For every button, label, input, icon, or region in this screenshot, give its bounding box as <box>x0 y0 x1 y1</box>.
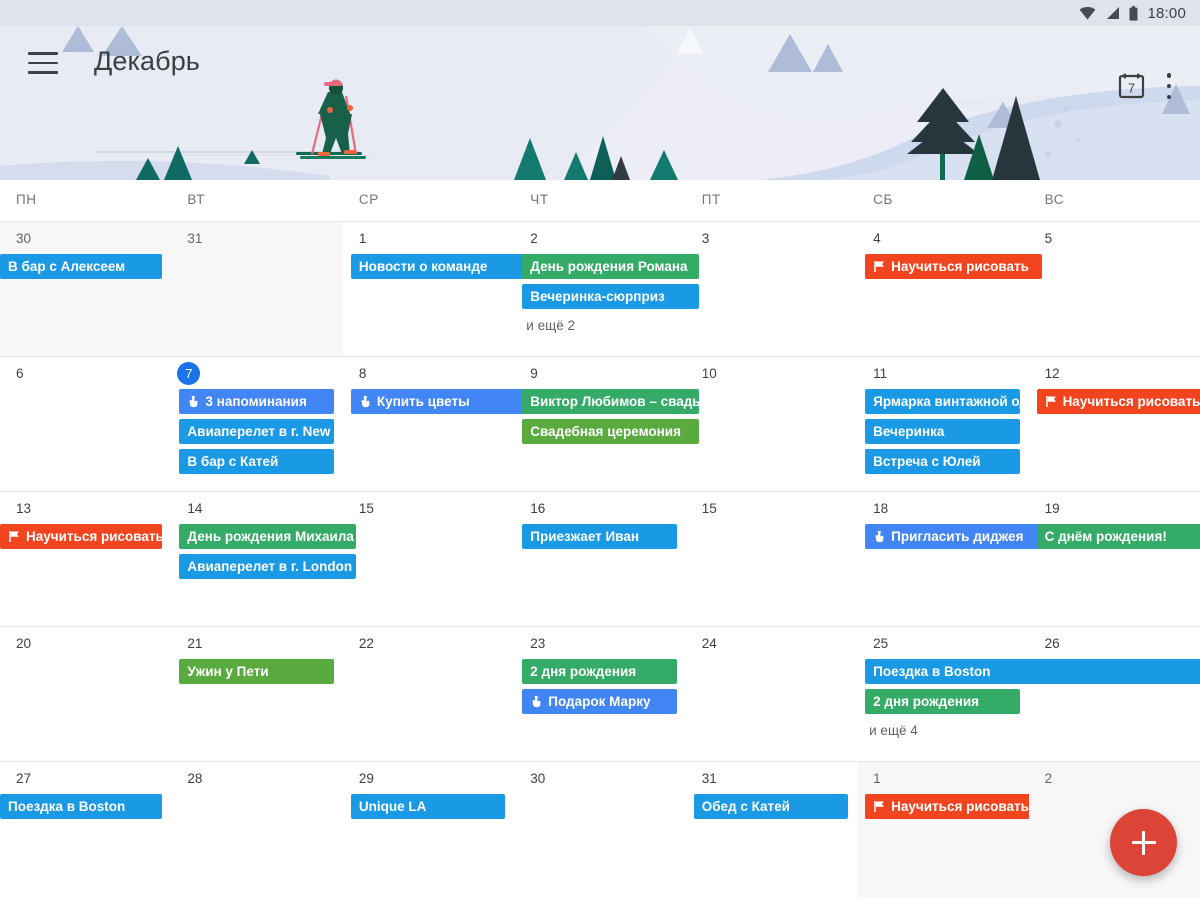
calendar-event[interactable]: Авиаперелет в г. New York <box>179 419 333 444</box>
month-grid: 30В бар с Алексеем311Новости о команде2Д… <box>0 222 1200 900</box>
more-events-link[interactable]: и ещё 2 <box>514 314 684 333</box>
day-events: Научиться рисовать <box>857 794 1027 824</box>
day-cell[interactable]: 4Научиться рисовать <box>857 222 1028 356</box>
day-events: Ярмарка винтажной одеждыВечеринкаВстреча… <box>857 389 1027 479</box>
event-title: Научиться рисовать <box>891 799 1029 814</box>
day-cell[interactable]: 14День рождения МихаилаАвиаперелет в г. … <box>171 492 342 626</box>
day-cell[interactable]: 73 напоминанияАвиаперелет в г. New YorkВ… <box>171 357 342 491</box>
day-cell[interactable]: 2День рождения РоманаВечеринка-сюрпризи … <box>514 222 685 356</box>
calendar-today-icon[interactable]: 7 <box>1118 72 1145 99</box>
calendar-event[interactable]: Подарок Марку <box>522 689 676 714</box>
event-title: Unique LA <box>359 799 427 814</box>
day-events: В бар с Алексеем <box>0 254 170 284</box>
day-events: День рождения МихаилаАвиаперелет в г. Lo… <box>171 524 341 584</box>
weekday-label-чт: ЧТ <box>514 180 685 221</box>
day-number: 24 <box>686 627 856 659</box>
weekday-label-пн: ПН <box>0 180 171 221</box>
event-title: Свадебная церемония <box>530 424 681 439</box>
day-events: День рождения РоманаВечеринка-сюрпризи е… <box>514 254 684 333</box>
day-cell[interactable]: 31Обед с Катей <box>686 762 857 897</box>
reminder-finger-icon <box>530 695 543 708</box>
day-number: 10 <box>686 357 856 389</box>
day-cell[interactable]: 22 <box>343 627 514 761</box>
day-number: 20 <box>0 627 170 659</box>
overflow-menu-icon[interactable] <box>1158 73 1180 99</box>
day-events: Приезжает Иван <box>514 524 684 554</box>
day-number: 29 <box>343 762 513 794</box>
event-title: Купить цветы <box>377 394 470 409</box>
day-cell[interactable]: 15 <box>343 492 514 626</box>
day-number: 1 <box>343 222 513 254</box>
day-cell[interactable]: 18Пригласить диджея <box>857 492 1028 626</box>
day-cell[interactable]: 25Поездка в Boston2 дня рожденияи ещё 4 <box>857 627 1028 761</box>
event-title: Вечеринка-сюрприз <box>530 289 664 304</box>
day-events: Научиться рисовать <box>857 254 1027 284</box>
day-number: 25 <box>857 627 1027 659</box>
flag-icon <box>873 260 886 273</box>
day-events: Купить цветы <box>343 389 513 419</box>
day-cell[interactable]: 6 <box>0 357 171 491</box>
calendar-event[interactable]: 3 напоминания <box>179 389 333 414</box>
day-number: 28 <box>171 762 341 794</box>
day-events: Виктор Любимов – свадьбаСвадебная церемо… <box>514 389 684 449</box>
day-events: Новости о команде <box>343 254 513 284</box>
event-title: 2 дня рождения <box>530 664 636 679</box>
day-number: 15 <box>343 492 513 524</box>
today-date-number: 7 <box>1128 81 1135 96</box>
day-number: 11 <box>857 357 1027 389</box>
day-number: 1 <box>857 762 1027 794</box>
flag-icon <box>873 800 886 813</box>
event-title: Приезжает Иван <box>530 529 639 544</box>
calendar-event[interactable]: Пригласить диджея <box>865 524 1041 549</box>
calendar-event[interactable]: Ярмарка винтажной одежды <box>865 389 1019 414</box>
day-cell[interactable]: 10 <box>686 357 857 491</box>
day-cell[interactable]: 9Виктор Любимов – свадьбаСвадебная церем… <box>514 357 685 491</box>
day-number: 13 <box>0 492 170 524</box>
day-cell[interactable]: 27Поездка в Boston <box>0 762 171 897</box>
day-cell[interactable]: 30В бар с Алексеем <box>0 222 171 356</box>
day-number: 30 <box>514 762 684 794</box>
day-events: Пригласить диджея <box>857 524 1027 554</box>
day-number: 18 <box>857 492 1027 524</box>
create-event-button[interactable] <box>1110 809 1177 876</box>
calendar-event[interactable]: День рождения Романа <box>522 254 698 279</box>
day-events: Поездка в Boston2 дня рожденияи ещё 4 <box>857 659 1027 738</box>
calendar-event[interactable]: Новости о команде <box>351 254 527 279</box>
day-number: 16 <box>514 492 684 524</box>
day-events: Поездка в Boston <box>0 794 170 824</box>
event-title: Научиться рисовать <box>1063 394 1200 409</box>
event-title: Пригласить диджея <box>891 529 1023 544</box>
reminder-finger-icon <box>873 530 886 543</box>
calendar-event[interactable]: День рождения Михаила <box>179 524 355 549</box>
calendar-event[interactable]: В бар с Алексеем <box>0 254 162 279</box>
weekday-label-пт: ПТ <box>686 180 857 221</box>
weekday-label-вс: ВС <box>1029 180 1200 221</box>
day-cell[interactable]: 24 <box>686 627 857 761</box>
calendar-event[interactable]: Авиаперелет в г. London <box>179 554 355 579</box>
day-number: 31 <box>171 222 341 254</box>
week-row: 673 напоминанияАвиаперелет в г. New York… <box>0 357 1200 492</box>
day-cell[interactable]: 21Ужин у Пети <box>171 627 342 761</box>
calendar-event[interactable]: В бар с Катей <box>179 449 333 474</box>
event-title: Новости о команде <box>359 259 488 274</box>
day-cell[interactable]: 26 <box>1029 627 1200 761</box>
day-events: Ужин у Пети <box>171 659 341 689</box>
calendar-event[interactable]: Свадебная церемония <box>522 419 698 444</box>
reminder-finger-icon <box>359 395 372 408</box>
event-title: Авиаперелет в г. London <box>187 559 352 574</box>
event-title: С днём рождения! <box>1045 529 1167 544</box>
event-title: День рождения Романа <box>530 259 687 274</box>
calendar-event[interactable]: 2 дня рождения <box>865 689 1019 714</box>
day-cell[interactable]: 29Unique LA <box>343 762 514 897</box>
day-cell[interactable]: 15 <box>686 492 857 626</box>
event-title: Ужин у Пети <box>187 664 268 679</box>
week-row: 27Поездка в Boston2829Unique LA3031Обед … <box>0 762 1200 897</box>
today-badge: 7 <box>177 362 200 385</box>
calendar-event[interactable]: Ужин у Пети <box>179 659 333 684</box>
day-number: 23 <box>514 627 684 659</box>
day-events: 2 дня рожденияПодарок Марку <box>514 659 684 719</box>
day-number: 6 <box>0 357 170 389</box>
event-title: Научиться рисовать <box>891 259 1029 274</box>
day-number: 26 <box>1029 627 1199 659</box>
event-title: Научиться рисовать <box>26 529 162 544</box>
day-cell[interactable]: 16Приезжает Иван <box>514 492 685 626</box>
day-number: 2 <box>1029 762 1199 794</box>
event-title: Обед с Катей <box>702 799 790 814</box>
day-number: 5 <box>1029 222 1199 254</box>
day-cell[interactable]: 19С днём рождения! <box>1029 492 1200 626</box>
event-title: 2 дня рождения <box>873 694 979 709</box>
day-number: 15 <box>686 492 856 524</box>
weekday-label-ср: СР <box>343 180 514 221</box>
calendar-header: Декабрь 7 <box>0 26 1200 180</box>
calendar-event[interactable]: Научиться рисовать <box>0 524 162 549</box>
day-number: 8 <box>343 357 513 389</box>
status-clock: 18:00 <box>1147 5 1186 22</box>
event-title: В бар с Катей <box>187 454 278 469</box>
day-number: 27 <box>0 762 170 794</box>
hamburger-menu-icon[interactable] <box>28 52 58 74</box>
flag-icon <box>1045 395 1058 408</box>
event-title: 3 напоминания <box>205 394 306 409</box>
day-number: 2 <box>514 222 684 254</box>
event-title: Виктор Любимов – свадьба <box>530 394 698 409</box>
battery-icon <box>1129 6 1138 21</box>
calendar-event[interactable]: Научиться рисовать <box>1037 389 1200 414</box>
day-cell[interactable]: 3 <box>686 222 857 356</box>
calendar-event[interactable]: Поездка в Boston <box>0 794 162 819</box>
day-events: 3 напоминанияАвиаперелет в г. New YorkВ … <box>171 389 341 479</box>
calendar-event[interactable]: Купить цветы <box>351 389 527 414</box>
calendar-event[interactable]: Научиться рисовать <box>865 254 1041 279</box>
day-cell[interactable]: 31 <box>171 222 342 356</box>
day-events: Научиться рисовать <box>1029 389 1199 419</box>
page-title: Декабрь <box>94 46 200 77</box>
day-cell[interactable]: 13Научиться рисовать <box>0 492 171 626</box>
event-title: Поездка в Boston <box>8 799 125 814</box>
day-number: 30 <box>0 222 170 254</box>
day-cell[interactable]: 5 <box>1029 222 1200 356</box>
weekday-header-row: ПНВТСРЧТПТСБВС <box>0 180 1200 222</box>
weekday-label-вт: ВТ <box>171 180 342 221</box>
day-number: 12 <box>1029 357 1199 389</box>
reminder-finger-icon <box>187 395 200 408</box>
event-title: Подарок Марку <box>548 694 650 709</box>
weekday-label-сб: СБ <box>857 180 1028 221</box>
day-number: 21 <box>171 627 341 659</box>
day-cell[interactable]: 30 <box>514 762 685 897</box>
day-events: Научиться рисовать <box>0 524 170 554</box>
day-number: 14 <box>171 492 341 524</box>
day-cell[interactable]: 8Купить цветы <box>343 357 514 491</box>
event-title: Поездка в Boston <box>873 664 990 679</box>
event-title: Встреча с Юлей <box>873 454 980 469</box>
day-number: 3 <box>686 222 856 254</box>
week-row: 2021Ужин у Пети22232 дня рожденияПодарок… <box>0 627 1200 762</box>
day-cell[interactable]: 1Новости о команде <box>343 222 514 356</box>
day-cell[interactable]: 12Научиться рисовать <box>1029 357 1200 491</box>
day-number: 31 <box>686 762 856 794</box>
day-cell[interactable]: 20 <box>0 627 171 761</box>
day-number: 4 <box>857 222 1027 254</box>
calendar-event[interactable]: Вечеринка-сюрприз <box>522 284 698 309</box>
flag-icon <box>8 530 21 543</box>
day-events: С днём рождения! <box>1029 524 1199 554</box>
calendar-event[interactable]: Встреча с Юлей <box>865 449 1019 474</box>
day-cell[interactable]: 232 дня рожденияПодарок Марку <box>514 627 685 761</box>
day-events: Обед с Катей <box>686 794 856 824</box>
day-number: 22 <box>343 627 513 659</box>
day-cell[interactable]: 11Ярмарка винтажной одеждыВечеринкаВстре… <box>857 357 1028 491</box>
status-bar: 18:00 <box>0 0 1200 26</box>
day-number: 9 <box>514 357 684 389</box>
event-title: Авиаперелет в г. New York <box>187 424 333 439</box>
week-row: 13Научиться рисовать14День рождения Миха… <box>0 492 1200 627</box>
day-cell[interactable]: 1Научиться рисовать <box>857 762 1028 897</box>
calendar-event[interactable]: Unique LA <box>351 794 505 819</box>
calendar-event[interactable]: С днём рождения! <box>1037 524 1200 549</box>
event-title: День рождения Михаила <box>187 529 353 544</box>
more-events-link[interactable]: и ещё 4 <box>857 719 1027 738</box>
event-title: Вечеринка <box>873 424 944 439</box>
event-title: Ярмарка винтажной одежды <box>873 394 1019 409</box>
cellular-signal-icon <box>1105 6 1120 20</box>
calendar-event[interactable]: Виктор Любимов – свадьба <box>522 389 698 414</box>
calendar-event[interactable]: 2 дня рождения <box>522 659 676 684</box>
day-events: Unique LA <box>343 794 513 824</box>
calendar-event[interactable]: Приезжает Иван <box>522 524 676 549</box>
calendar-event[interactable]: Обед с Катей <box>694 794 848 819</box>
calendar-app: 18:00 <box>0 0 1200 900</box>
day-number: 19 <box>1029 492 1199 524</box>
calendar-event[interactable]: Научиться рисовать <box>865 794 1041 819</box>
calendar-event[interactable]: Вечеринка <box>865 419 1019 444</box>
wifi-icon <box>1079 6 1096 20</box>
week-row: 30В бар с Алексеем311Новости о команде2Д… <box>0 222 1200 357</box>
day-cell[interactable]: 28 <box>171 762 342 897</box>
event-title: В бар с Алексеем <box>8 259 125 274</box>
